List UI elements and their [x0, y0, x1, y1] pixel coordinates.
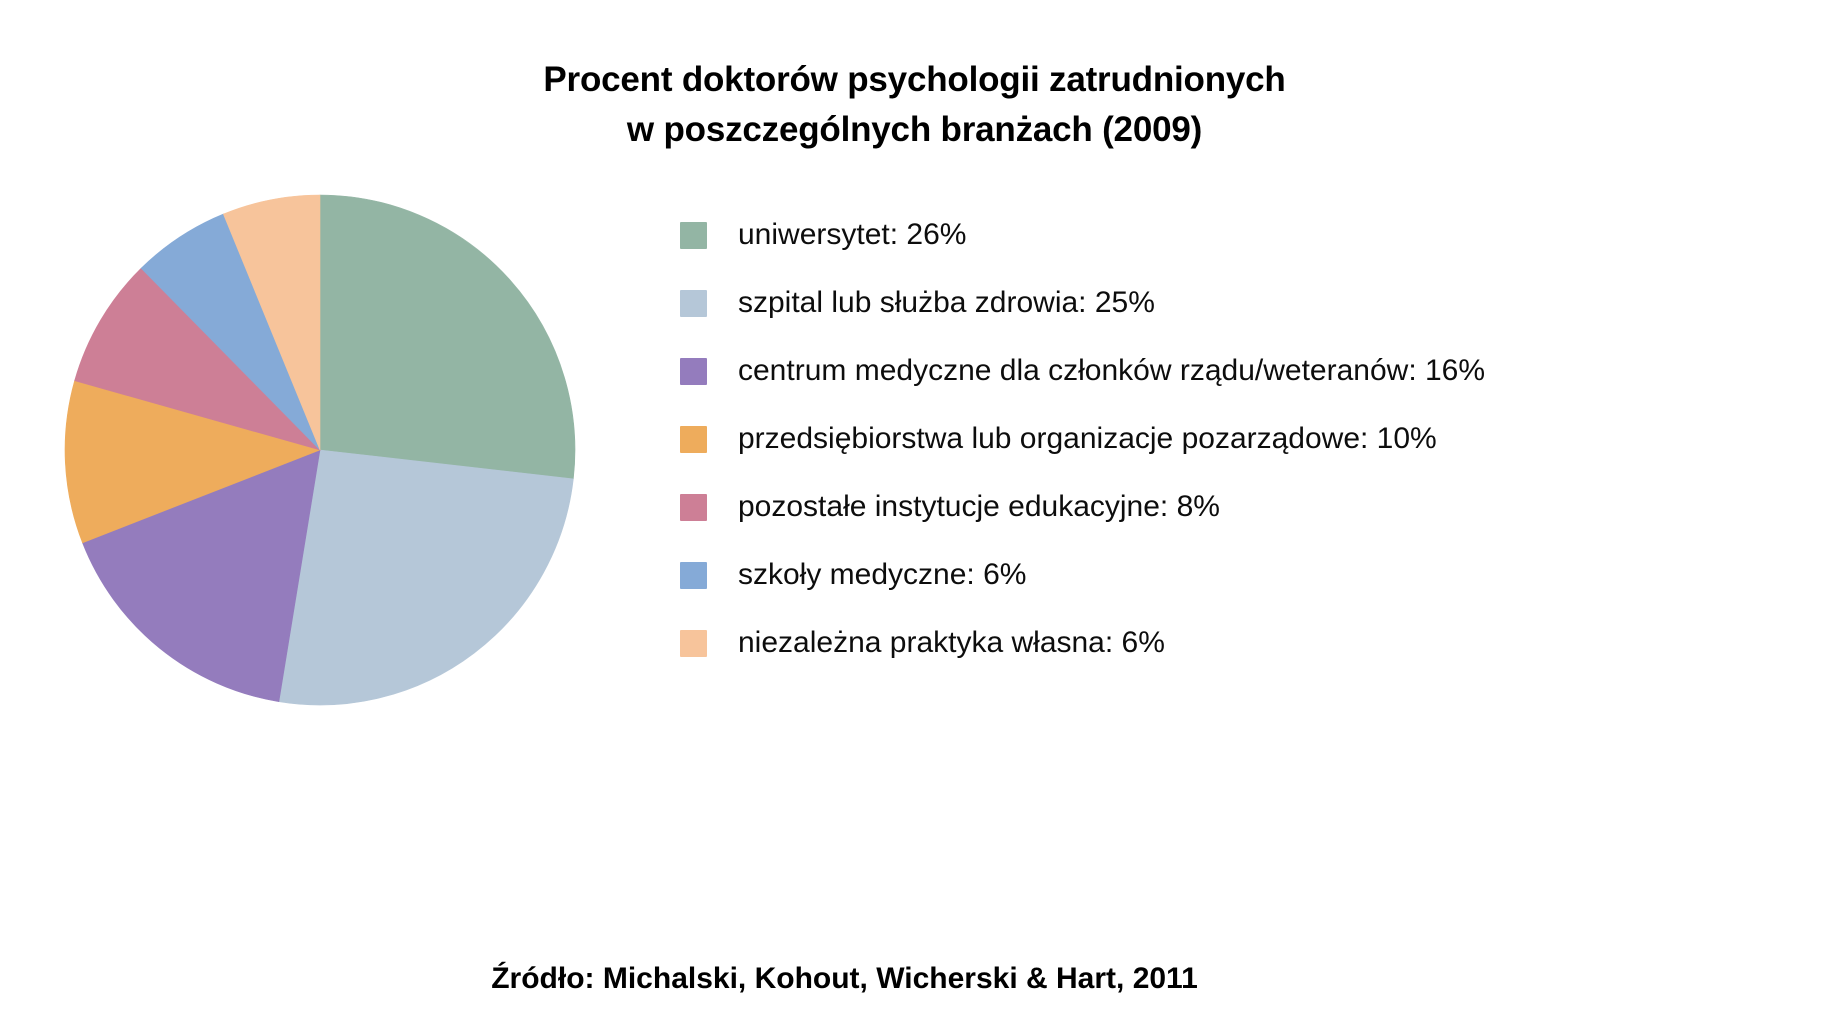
legend-color-swatch-icon	[680, 222, 707, 249]
pie-slice[interactable]	[279, 450, 573, 705]
legend-item[interactable]: szpital lub służba zdrowia: 25%	[680, 269, 1829, 337]
chart-body: uniwersytet: 26%szpital lub służba zdrow…	[0, 177, 1829, 962]
legend-item[interactable]: pozostałe instytucje edukacyjne: 8%	[680, 473, 1829, 541]
legend-item-label: pozostałe instytucje edukacyjne: 8%	[738, 490, 1220, 524]
chart-source-note: Źródło: Michalski, Kohout, Wicherski & H…	[0, 962, 1829, 1034]
legend-color-swatch-icon	[680, 494, 707, 521]
legend-item-label: przedsiębiorstwa lub organizacje pozarzą…	[738, 422, 1437, 456]
legend-item[interactable]: niezależna praktyka własna: 6%	[680, 609, 1829, 677]
legend-item-label: uniwersytet: 26%	[738, 218, 966, 252]
legend-color-swatch-icon	[680, 358, 707, 385]
legend-item-label: niezależna praktyka własna: 6%	[738, 626, 1165, 660]
chart-title-line-2: w poszczególnych branżach (2009)	[0, 105, 1829, 155]
chart-title-line-1: Procent doktorów psychologii zatrudniony…	[0, 55, 1829, 105]
legend-item[interactable]: przedsiębiorstwa lub organizacje pozarzą…	[680, 405, 1829, 473]
chart-legend: uniwersytet: 26%szpital lub służba zdrow…	[582, 177, 1829, 677]
legend-color-swatch-icon	[680, 426, 707, 453]
legend-item[interactable]: uniwersytet: 26%	[680, 201, 1829, 269]
legend-color-swatch-icon	[680, 562, 707, 589]
legend-item-label: szpital lub służba zdrowia: 25%	[738, 286, 1155, 320]
legend-color-swatch-icon	[680, 290, 707, 317]
pie-slice[interactable]	[320, 195, 575, 479]
legend-item[interactable]: centrum medyczne dla członków rządu/wete…	[680, 337, 1829, 405]
pie-graphic	[62, 185, 582, 715]
pie-plot-area	[62, 177, 582, 715]
chart-title: Procent doktorów psychologii zatrudniony…	[0, 55, 1829, 155]
legend-color-swatch-icon	[680, 630, 707, 657]
legend-item-label: centrum medyczne dla członków rządu/wete…	[738, 354, 1485, 388]
legend-item[interactable]: szkoły medyczne: 6%	[680, 541, 1829, 609]
legend-item-label: szkoły medyczne: 6%	[738, 558, 1026, 592]
pie-chart-figure: Procent doktorów psychologii zatrudniony…	[0, 0, 1829, 1034]
